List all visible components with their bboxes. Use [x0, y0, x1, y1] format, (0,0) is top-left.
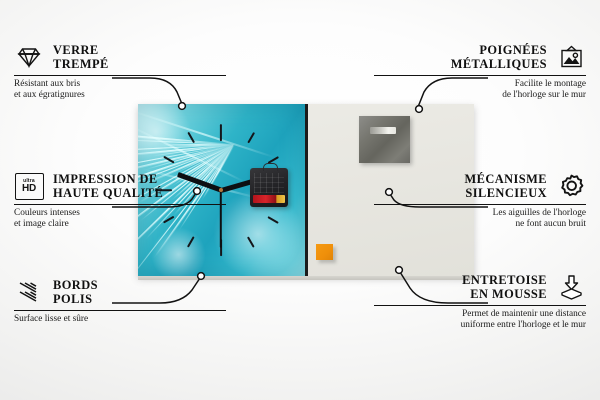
feature-description: Résistant aux bris et aux égratignures — [14, 79, 226, 102]
feature-mecanisme-silencieux: MÉCANISME SILENCIEUX Les aiguilles de l'… — [374, 171, 586, 231]
mechanism-hanger-lug — [263, 163, 278, 171]
feature-divider — [14, 75, 226, 76]
feature-header: MÉCANISME SILENCIEUX — [374, 171, 586, 201]
feature-bords-polis: BORDS POLIS Surface lisse et sûre — [14, 277, 226, 325]
clock-tick — [220, 124, 222, 141]
feature-title: VERRE TREMPÉ — [53, 43, 109, 71]
feature-verre-trempe: VERRE TREMPÉ Résistant aux bris et aux é… — [14, 42, 226, 102]
feature-header: ENTRETOISE EN MOUSSE — [374, 272, 586, 302]
feature-description: Les aiguilles de l'horloge ne font aucun… — [374, 208, 586, 231]
feature-title: MÉCANISME SILENCIEUX — [464, 172, 547, 200]
feature-description: Couleurs intenses et image claire — [14, 208, 226, 231]
feature-divider — [14, 204, 226, 205]
ultra-hd-icon-main: HD — [22, 184, 36, 194]
feature-description: Surface lisse et sûre — [14, 314, 226, 325]
battery — [253, 195, 285, 203]
feature-divider — [14, 310, 226, 311]
feature-divider — [374, 75, 586, 76]
feature-title: ENTRETOISE EN MOUSSE — [462, 273, 547, 301]
feature-divider — [374, 204, 586, 205]
gear-icon — [556, 171, 586, 201]
diamond-icon — [14, 42, 44, 72]
mechanism-texture — [254, 173, 284, 193]
feature-description: Facilite le montage de l'horloge sur le … — [374, 79, 586, 102]
feature-impression-haute-qualite: ultra HD IMPRESSION DE HAUTE QUALITÉ Cou… — [14, 171, 226, 231]
feature-description: Permet de maintenir une distance uniform… — [374, 309, 586, 332]
foam-spacer — [316, 244, 333, 260]
feature-header: VERRE TREMPÉ — [14, 42, 226, 72]
polished-edges-icon — [14, 277, 44, 307]
feature-header: ultra HD IMPRESSION DE HAUTE QUALITÉ — [14, 171, 226, 201]
feature-poignees-metalliques: POIGNÉES MÉTALLIQUES Facilite le montage… — [374, 42, 586, 102]
feature-header: POIGNÉES MÉTALLIQUES — [374, 42, 586, 72]
infographic-canvas: VERRE TREMPÉ Résistant aux bris et aux é… — [0, 0, 600, 400]
feature-divider — [374, 305, 586, 306]
clock-tick — [247, 132, 254, 143]
ultra-hd-icon: ultra HD — [14, 171, 44, 201]
press-down-layers-icon — [556, 272, 586, 302]
picture-frame-icon — [556, 42, 586, 72]
feature-title: BORDS POLIS — [53, 278, 98, 306]
metal-hanger-bracket — [359, 116, 410, 163]
bracket-slot — [370, 127, 396, 134]
feature-title: POIGNÉES MÉTALLIQUES — [451, 43, 547, 71]
feature-title: IMPRESSION DE HAUTE QUALITÉ — [53, 172, 163, 200]
clock-mechanism — [250, 168, 288, 207]
feature-entretoise-en-mousse: ENTRETOISE EN MOUSSE Permet de maintenir… — [374, 272, 586, 332]
feature-header: BORDS POLIS — [14, 277, 226, 307]
